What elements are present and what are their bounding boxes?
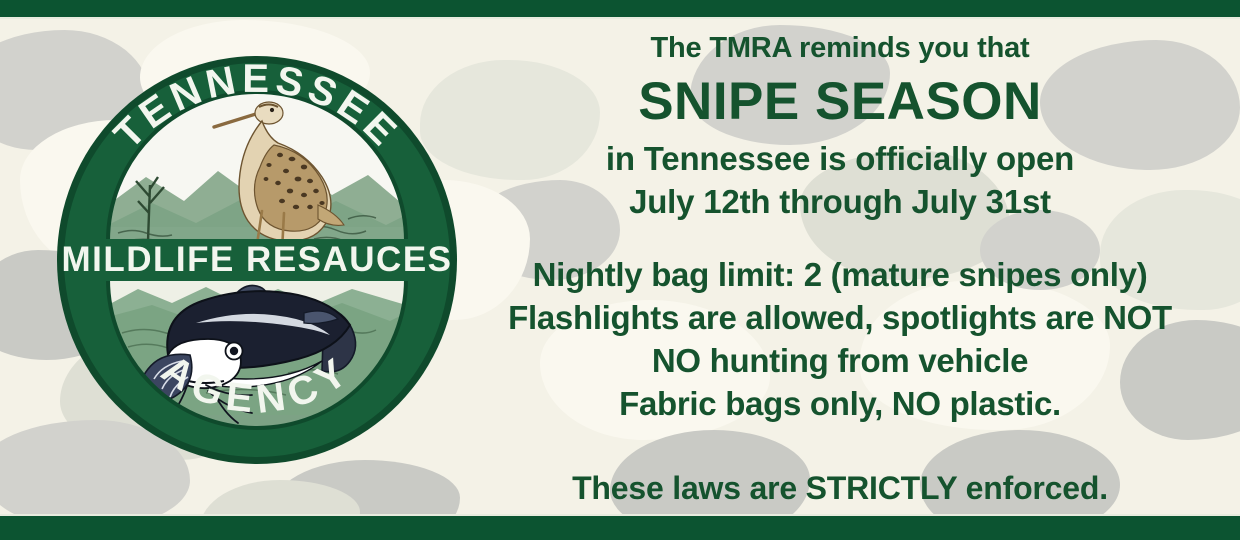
notice-rule-1: Nightly bag limit: 2 (mature snipes only…	[462, 258, 1218, 291]
snipe-season-poster: MILDLIFE RESAUCES TENNESSEE AGENCY The T…	[0, 0, 1240, 540]
agency-seal: MILDLIFE RESAUCES TENNESSEE AGENCY	[56, 55, 458, 465]
notice-closing-line: These laws are STRICTLY enforced.	[462, 472, 1218, 504]
notice-rule-2: Flashlights are allowed, spotlights are …	[462, 301, 1218, 334]
notice-intro-line: The TMRA reminds you that	[462, 34, 1218, 63]
seal-middle-band-text: MILDLIFE RESAUCES	[61, 240, 452, 279]
notice-subline-2: July 12th through July 31st	[462, 185, 1218, 218]
bottom-green-bar	[0, 516, 1240, 540]
top-green-bar	[0, 0, 1240, 17]
top-bar-hairline	[0, 17, 1240, 19]
notice-subline-1: in Tennessee is officially open	[462, 142, 1218, 175]
notice-rule-4: Fabric bags only, NO plastic.	[462, 387, 1218, 420]
notice-headline: SNIPE SEASON	[462, 75, 1218, 128]
notice-text-block: The TMRA reminds you that SNIPE SEASON i…	[462, 18, 1218, 518]
agency-seal-graphic: MILDLIFE RESAUCES TENNESSEE AGENCY	[56, 55, 458, 465]
notice-rule-3: NO hunting from vehicle	[462, 344, 1218, 377]
